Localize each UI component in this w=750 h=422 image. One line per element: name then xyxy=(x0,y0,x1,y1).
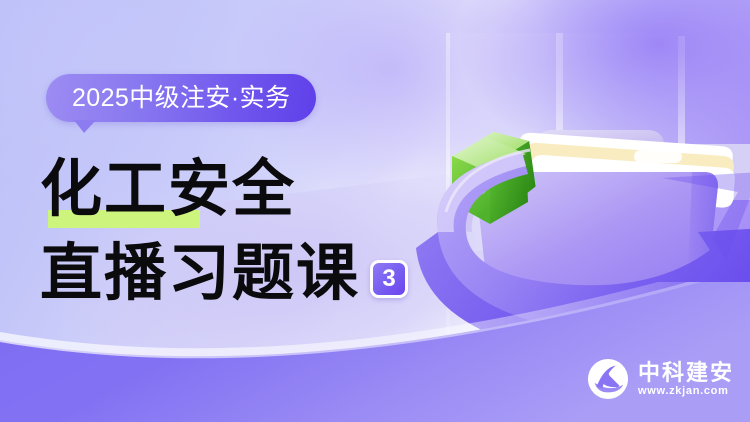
headline-line-1-row: 化工安全 xyxy=(40,158,460,220)
course-banner: 2025中级注安·实务 化工安全 直播习题课 3 中科建安 www.zkjan.… xyxy=(0,0,750,422)
headline-line-1: 化工安全 xyxy=(40,158,296,220)
brand-logo[interactable]: 中科建安 www.zkjan.com xyxy=(587,358,734,400)
brand-name-cn: 中科建安 xyxy=(638,362,734,384)
brand-website: www.zkjan.com xyxy=(638,386,734,397)
episode-number: 3 xyxy=(382,267,395,291)
course-tag-pill: 2025中级注安·实务 xyxy=(46,74,316,122)
episode-number-badge: 3 xyxy=(370,260,408,298)
pill-tail-pointer xyxy=(74,120,96,133)
headline-line-2: 直播习题课 xyxy=(40,242,360,304)
brand-logo-text: 中科建安 www.zkjan.com xyxy=(638,362,734,397)
headline-line-2-row: 直播习题课 3 xyxy=(40,242,460,304)
headline-block: 化工安全 直播习题课 3 xyxy=(40,158,460,304)
course-tag-label: 2025中级注安·实务 xyxy=(72,86,290,111)
circle-person-logo-icon xyxy=(587,358,629,400)
course-tag-badge: 2025中级注安·实务 xyxy=(46,74,316,122)
